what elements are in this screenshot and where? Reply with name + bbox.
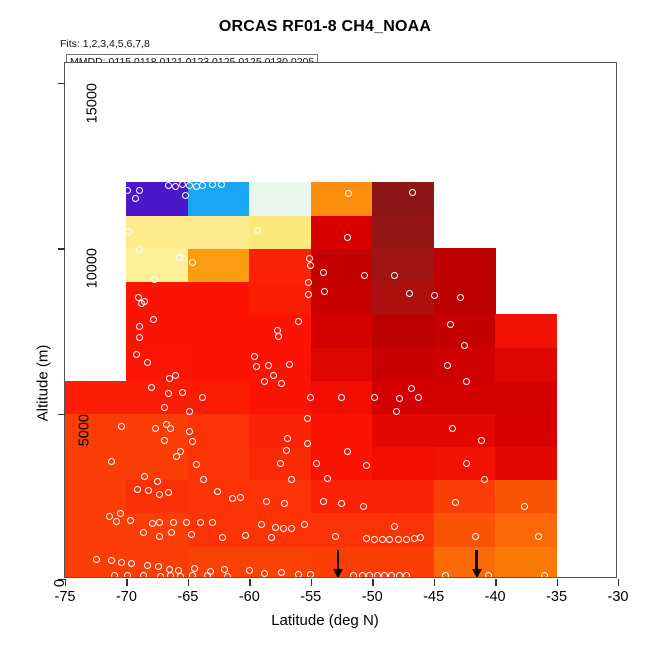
x-axis-tick-label: -65 (177, 589, 198, 605)
x-axis-tick (65, 579, 66, 586)
x-axis-tick (434, 579, 435, 586)
x-axis-tick (618, 579, 619, 586)
x-axis-label: Latitude (deg N) (0, 612, 650, 629)
x-axis-tick (126, 579, 127, 586)
plot-root: ORCAS RF01-8 CH4_NOAA Fits: 1,2,3,4,5,6,… (0, 0, 650, 650)
y-axis-tick-label: 10000 (84, 248, 100, 288)
x-axis-tick-label: -45 (423, 589, 444, 605)
x-axis-tick-label: -30 (608, 589, 629, 605)
x-axis-tick (249, 579, 250, 586)
x-axis-tick-label: -40 (485, 589, 506, 605)
annotation-arrows (65, 63, 616, 577)
y-axis-tick-label: 15000 (84, 83, 100, 123)
arrow-head (333, 569, 343, 577)
arrow-head (472, 569, 482, 577)
x-axis-tick (495, 579, 496, 586)
x-axis-tick-label: -35 (546, 589, 567, 605)
x-axis-tick (188, 579, 189, 586)
y-axis-tick (58, 414, 65, 415)
x-axis-tick (372, 579, 373, 586)
plot-area: 050001000015000 -75-70-65-60-55-50-45-40… (64, 62, 617, 578)
y-axis-tick (58, 83, 65, 84)
x-axis-tick-label: -50 (362, 589, 383, 605)
y-axis-label: Altitude (m) (35, 345, 52, 422)
arrow-shaft (337, 550, 340, 571)
y-axis-tick (58, 248, 65, 249)
x-axis-tick (557, 579, 558, 586)
x-axis-tick (311, 579, 312, 586)
x-axis-tick-label: -70 (116, 589, 137, 605)
x-axis-tick-label: -60 (239, 589, 260, 605)
x-axis-tick-label: -75 (55, 589, 76, 605)
arrow-shaft (475, 550, 478, 571)
x-axis-tick-label: -55 (300, 589, 321, 605)
fits-annotation: Fits: 1,2,3,4,5,6,7,8 (60, 38, 150, 50)
page-title: ORCAS RF01-8 CH4_NOAA (0, 18, 650, 36)
y-axis-tick-label: 5000 (76, 414, 92, 446)
